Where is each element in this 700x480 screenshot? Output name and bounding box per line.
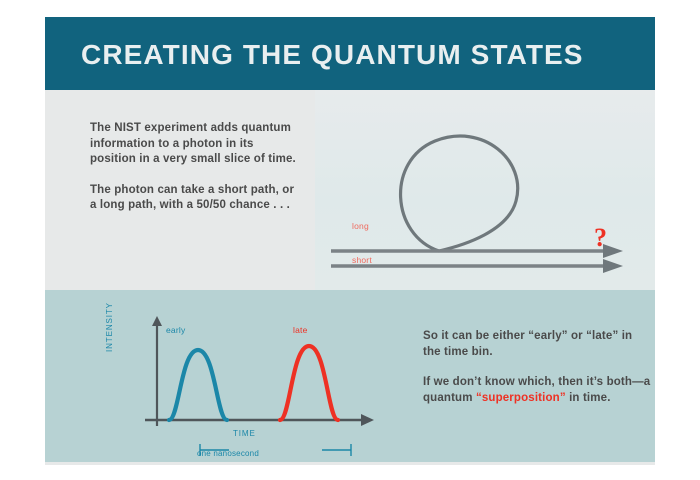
long-path-label: long (352, 221, 369, 231)
chart-x-axis-arrow-icon (361, 414, 374, 426)
bottom-section-footer-strip (45, 462, 655, 465)
top-section-copy: The NIST experiment adds quantum informa… (90, 121, 296, 214)
photon-loop-icon (401, 136, 518, 251)
superposition-text-post: in time. (566, 392, 611, 404)
chart-series-late (280, 346, 338, 420)
chart-label-late: late (293, 325, 308, 335)
paragraph-experiment: The NIST experiment adds quantum informa… (90, 121, 296, 168)
superposition-highlight: “superposition” (476, 392, 566, 404)
question-mark-icon: ? (594, 223, 607, 253)
short-path-arrow-right-icon (603, 259, 623, 273)
chart-y-axis-arrow-icon (152, 316, 162, 326)
paragraph-early-late: So it can be either “early” or “late” in… (423, 329, 653, 360)
chart-y-axis-label: INTENSITY (105, 302, 114, 352)
paragraph-superposition: If we don’t know which, then it’s both—a… (423, 375, 653, 406)
chart-label-early: early (166, 325, 185, 335)
page-title: CREATING THE QUANTUM STATES (81, 39, 584, 71)
bottom-section-copy: So it can be either “early” or “late” in… (423, 329, 653, 406)
infographic-poster: CREATING THE QUANTUM STATES The NIST exp… (45, 17, 655, 465)
paragraph-paths: The photon can take a short path, or a l… (90, 183, 296, 214)
short-path-label: short (352, 255, 372, 265)
chart-series-early (169, 350, 227, 420)
chart-scale-label: one nanosecond (197, 449, 259, 458)
header-bar: CREATING THE QUANTUM STATES (45, 17, 655, 90)
chart-x-axis-label: TIME (233, 429, 256, 438)
